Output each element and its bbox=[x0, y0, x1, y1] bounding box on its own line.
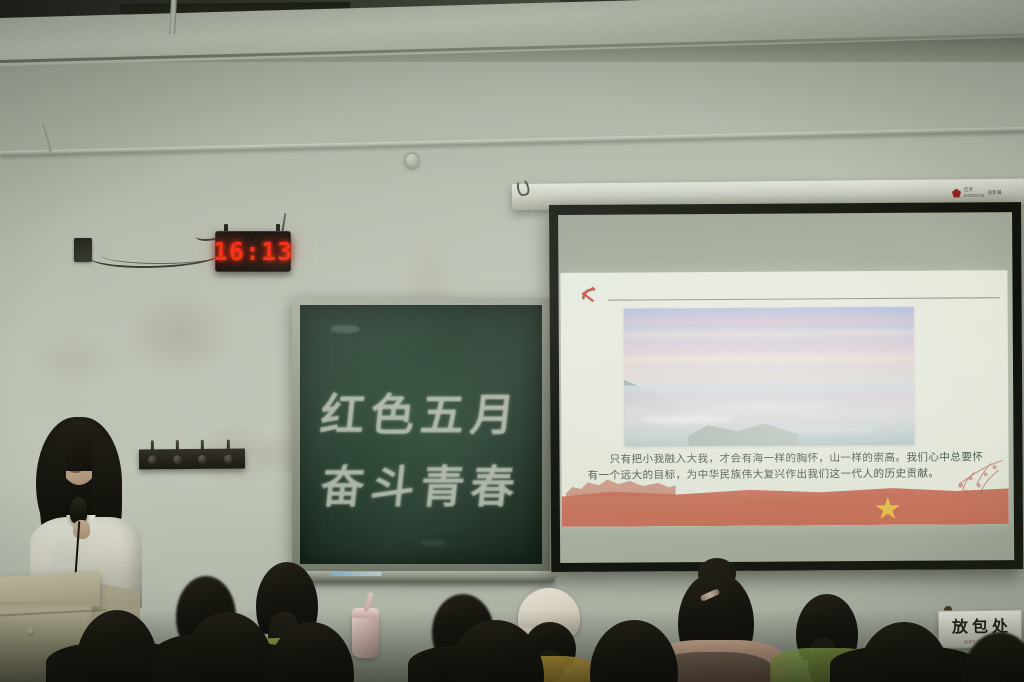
star-icon bbox=[952, 189, 961, 198]
coat-hook-knob bbox=[173, 455, 182, 464]
chalk-smudge bbox=[330, 325, 360, 333]
classroom-scene: 16:13 红色五月 奋斗青春 红叶 HONGYE 投影幕 bbox=[0, 0, 1024, 682]
cpc-hammer-sickle-emblem bbox=[577, 283, 601, 306]
water-bottle[interactable] bbox=[352, 612, 379, 658]
led-wall-clock: 16:13 bbox=[215, 231, 291, 272]
screen-brand-text: 红叶 HONGYE bbox=[964, 187, 985, 198]
chalkboard: 红色五月 奋斗青春 bbox=[292, 298, 550, 576]
presentation-slide: 只有把小我融入大我，才会有海一样的胸怀，山一样的崇高。我们心中总要怀有一个远大的… bbox=[560, 270, 1009, 527]
student-head bbox=[962, 632, 1024, 682]
coat-hook-icon bbox=[201, 440, 204, 451]
coat-hook-knob bbox=[198, 455, 207, 464]
screen-type-text: 投影幕 bbox=[988, 190, 1002, 196]
cloud-band bbox=[624, 365, 915, 373]
power-cable-sag bbox=[100, 246, 220, 264]
cloud-band bbox=[624, 329, 915, 339]
coat-hook-icon bbox=[151, 440, 154, 451]
sunset-seascape-photo bbox=[624, 307, 915, 447]
seated-students bbox=[0, 552, 1024, 682]
coat-hook-knob bbox=[148, 455, 157, 464]
slide-body-text: 只有把小我融入大我，才会有海一样的胸怀，山一样的崇高。我们心中总要怀有一个远大的… bbox=[588, 450, 987, 484]
chalkboard-surface: 红色五月 奋斗青春 bbox=[300, 305, 542, 564]
conduit-junction-knob bbox=[404, 152, 420, 168]
screen-brand-label: 红叶 HONGYE 投影幕 bbox=[952, 186, 1014, 200]
chalkboard-line-1: 红色五月 bbox=[300, 379, 542, 443]
student-head bbox=[590, 620, 678, 682]
chalk-smudge bbox=[420, 540, 446, 546]
coat-hook-knob bbox=[224, 455, 233, 464]
coat-hook-rack[interactable] bbox=[139, 448, 245, 469]
cloud-band bbox=[624, 315, 915, 327]
projection-screen-surface: 只有把小我融入大我，才会有海一样的胸怀，山一样的崇高。我们心中总要怀有一个远大的… bbox=[558, 212, 1014, 563]
coat-hook-icon bbox=[176, 440, 179, 451]
brand-line-2: HONGYE bbox=[964, 193, 985, 199]
handheld-microphone bbox=[70, 497, 87, 523]
chalkboard-line-2: 奋斗青春 bbox=[300, 451, 542, 515]
projection-screen[interactable]: 只有把小我融入大我，才会有海一样的胸怀，山一样的崇高。我们心中总要怀有一个远大的… bbox=[549, 202, 1023, 572]
coat-hook-icon bbox=[227, 440, 230, 451]
student-shoulders bbox=[830, 646, 980, 682]
cloud-band bbox=[624, 354, 915, 363]
cloud-band bbox=[624, 342, 915, 355]
clock-time-display: 16:13 bbox=[213, 239, 293, 264]
slide-divider bbox=[608, 297, 1000, 300]
speaker-hand bbox=[73, 520, 90, 539]
